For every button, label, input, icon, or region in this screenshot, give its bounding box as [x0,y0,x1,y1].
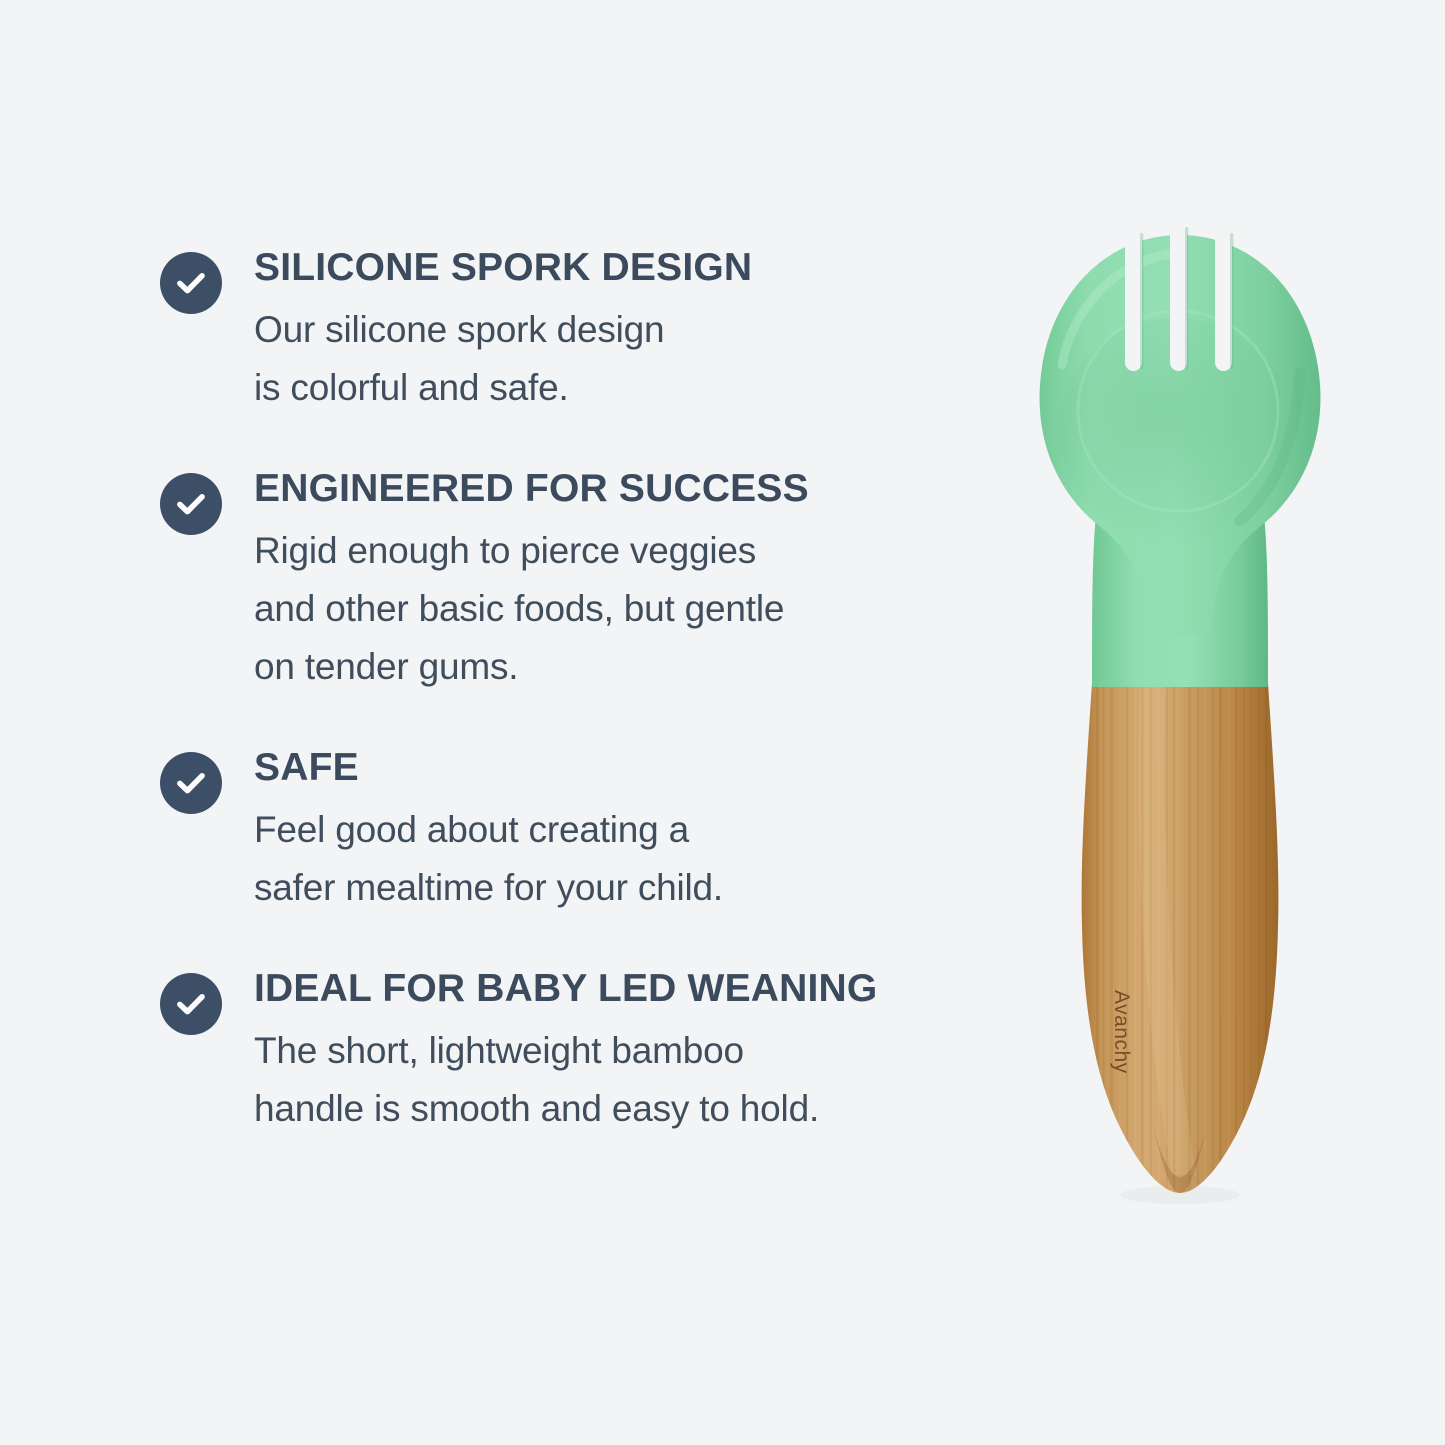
feature-body: The short, lightweight bamboo handle is … [254,1022,980,1138]
feature-text-block: ENGINEERED FOR SUCCESS Rigid enough to p… [254,469,980,696]
feature-body-line: Rigid enough to pierce veggies [254,522,980,580]
feature-body: Our silicone spork design is colorful an… [254,301,980,417]
feature-body-line: handle is smooth and easy to hold. [254,1080,980,1138]
feature-body-line: The short, lightweight bamboo [254,1022,980,1080]
feature-item-ideal-for-baby-led-weaning: IDEAL FOR BABY LED WEANING The short, li… [160,969,980,1138]
feature-text-block: SAFE Feel good about creating a safer me… [254,748,980,917]
feature-body-line: and other basic foods, but gentle [254,580,980,638]
feature-body-line: safer mealtime for your child. [254,859,980,917]
feature-body-line: is colorful and safe. [254,359,980,417]
spork-handle-bamboo [1082,683,1279,1195]
feature-title: SILICONE SPORK DESIGN [254,248,980,289]
feature-body-line: Our silicone spork design [254,301,980,359]
feature-body: Rigid enough to pierce veggies and other… [254,522,980,696]
feature-item-safe: SAFE Feel good about creating a safer me… [160,748,980,917]
feature-body-line: on tender gums. [254,638,980,696]
feature-body: Feel good about creating a safer mealtim… [254,801,980,917]
feature-title: IDEAL FOR BABY LED WEANING [254,969,980,1010]
feature-list: SILICONE SPORK DESIGN Our silicone spork… [160,248,980,1138]
feature-title: SAFE [254,748,980,789]
check-circle-icon [160,752,222,814]
feature-text-block: SILICONE SPORK DESIGN Our silicone spork… [254,248,980,417]
feature-text-block: IDEAL FOR BABY LED WEANING The short, li… [254,969,980,1138]
check-circle-icon [160,973,222,1035]
feature-item-silicone-spork-design: SILICONE SPORK DESIGN Our silicone spork… [160,248,980,417]
product-image-baby-spork [1000,215,1360,1225]
feature-title: ENGINEERED FOR SUCCESS [254,469,980,510]
check-circle-icon [160,473,222,535]
infographic-canvas: SILICONE SPORK DESIGN Our silicone spork… [0,0,1445,1445]
feature-item-engineered-for-success: ENGINEERED FOR SUCCESS Rigid enough to p… [160,469,980,696]
feature-body-line: Feel good about creating a [254,801,980,859]
check-circle-icon [160,252,222,314]
spork-head-silicone [1040,225,1321,635]
